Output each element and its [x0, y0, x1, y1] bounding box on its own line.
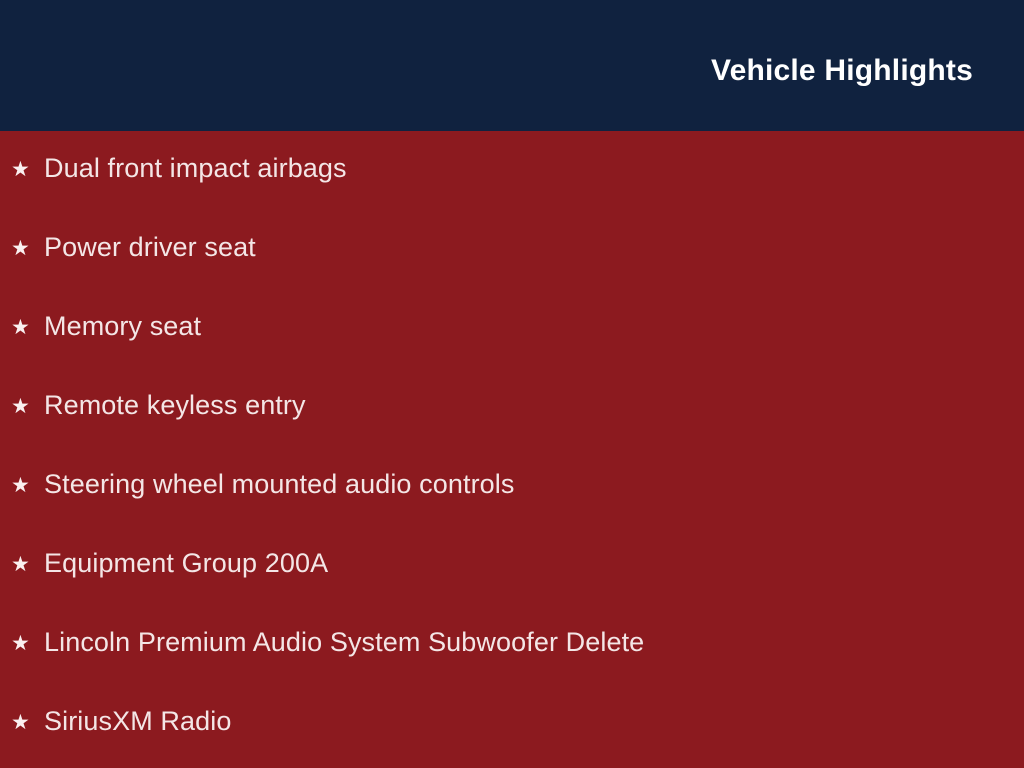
vehicle-highlights-list: ★Dual front impact airbags★Power driver …	[0, 131, 1024, 768]
list-item-label: SiriusXM Radio	[44, 706, 231, 737]
slide-header: Vehicle Highlights	[0, 0, 1024, 131]
vehicle-highlights-slide: Vehicle Highlights ★Dual front impact ai…	[0, 0, 1024, 768]
list-item: ★Equipment Group 200A	[11, 544, 328, 584]
list-item-label: Steering wheel mounted audio controls	[44, 469, 515, 500]
star-icon: ★	[11, 712, 33, 733]
star-icon: ★	[11, 396, 33, 417]
list-item: ★Steering wheel mounted audio controls	[11, 465, 515, 505]
list-item: ★Remote keyless entry	[11, 386, 306, 426]
list-item-label: Lincoln Premium Audio System Subwoofer D…	[44, 627, 644, 658]
list-item: ★Lincoln Premium Audio System Subwoofer …	[11, 623, 644, 663]
list-item-label: Equipment Group 200A	[44, 548, 328, 579]
star-icon: ★	[11, 238, 33, 259]
list-item: ★Power driver seat	[11, 228, 256, 268]
star-icon: ★	[11, 554, 33, 575]
highlights-body: ★Dual front impact airbags★Power driver …	[0, 131, 1024, 768]
star-icon: ★	[11, 633, 33, 654]
star-icon: ★	[11, 317, 33, 338]
list-item: ★Memory seat	[11, 307, 201, 347]
list-item-label: Memory seat	[44, 311, 201, 342]
list-item: ★Dual front impact airbags	[11, 149, 347, 189]
list-item-label: Remote keyless entry	[44, 390, 306, 421]
list-item-label: Power driver seat	[44, 232, 256, 263]
star-icon: ★	[11, 475, 33, 496]
page-title: Vehicle Highlights	[711, 46, 973, 86]
list-item-label: Dual front impact airbags	[44, 153, 347, 184]
list-item: ★SiriusXM Radio	[11, 702, 231, 742]
star-icon: ★	[11, 159, 33, 180]
